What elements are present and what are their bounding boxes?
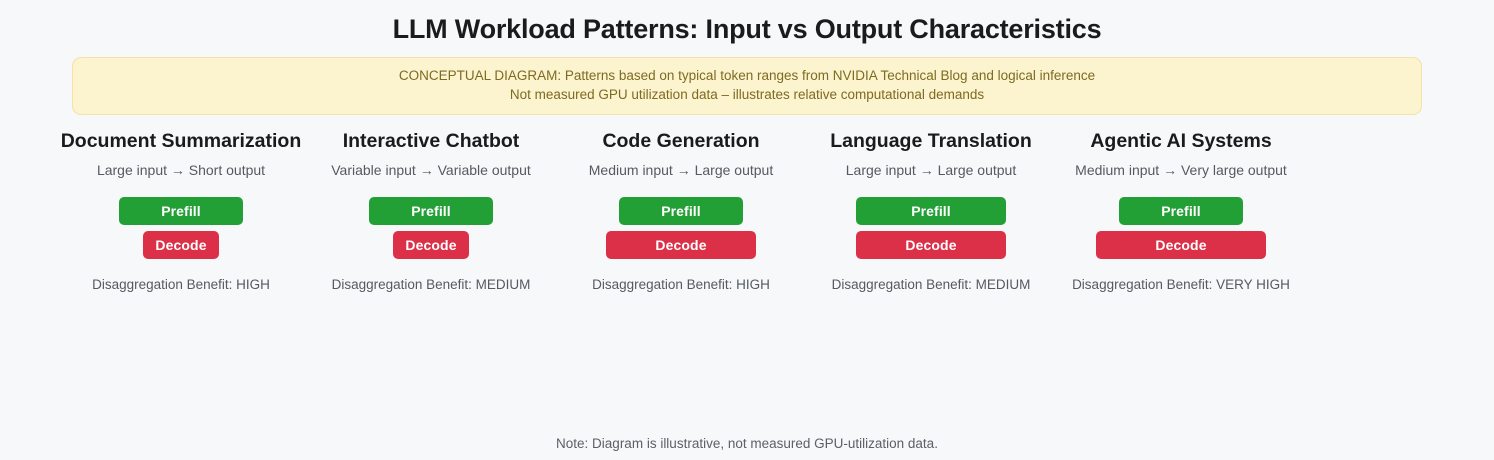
workload-column-interactive-chatbot: Interactive Chatbot Variable input → Var… <box>306 129 556 291</box>
banner-line-1: CONCEPTUAL DIAGRAM: Patterns based on ty… <box>89 67 1405 86</box>
decode-bar: Decode <box>856 231 1006 259</box>
disaggregation-benefit: Disaggregation Benefit: HIGH <box>92 277 270 292</box>
disaggregation-benefit: Disaggregation Benefit: VERY HIGH <box>1072 277 1290 292</box>
workload-title: Interactive Chatbot <box>343 129 520 153</box>
conceptual-diagram-banner: CONCEPTUAL DIAGRAM: Patterns based on ty… <box>72 57 1422 115</box>
workload-title: Code Generation <box>602 129 759 153</box>
workload-subtitle: Large input → Large output <box>846 162 1016 178</box>
decode-bar: Decode <box>1096 231 1266 259</box>
disaggregation-benefit: Disaggregation Benefit: MEDIUM <box>332 277 531 292</box>
workload-column-language-translation: Language Translation Large input → Large… <box>806 129 1056 291</box>
workload-bars: Prefill Decode <box>119 197 243 259</box>
prefill-bar: Prefill <box>1119 197 1243 225</box>
workload-bars: Prefill Decode <box>1096 197 1266 259</box>
banner-line-2: Not measured GPU utilization data – illu… <box>89 86 1405 105</box>
workload-columns: Document Summarization Large input → Sho… <box>0 129 1494 291</box>
footer-note: Note: Diagram is illustrative, not measu… <box>0 436 1494 451</box>
workload-subtitle: Large input → Short output <box>97 162 265 178</box>
decode-bar: Decode <box>393 231 469 259</box>
workload-subtitle: Medium input → Large output <box>589 162 773 178</box>
workload-title: Agentic AI Systems <box>1090 129 1271 153</box>
workload-bars: Prefill Decode <box>369 197 493 259</box>
workload-column-agentic-ai-systems: Agentic AI Systems Medium input → Very l… <box>1056 129 1306 291</box>
disaggregation-benefit: Disaggregation Benefit: MEDIUM <box>832 277 1031 292</box>
workload-bars: Prefill Decode <box>856 197 1006 259</box>
prefill-bar: Prefill <box>856 197 1006 225</box>
workload-subtitle: Variable input → Variable output <box>331 162 531 178</box>
disaggregation-benefit: Disaggregation Benefit: HIGH <box>592 277 770 292</box>
prefill-bar: Prefill <box>619 197 743 225</box>
page-title: LLM Workload Patterns: Input vs Output C… <box>0 0 1494 47</box>
prefill-bar: Prefill <box>369 197 493 225</box>
workload-subtitle: Medium input → Very large output <box>1075 162 1287 178</box>
decode-bar: Decode <box>143 231 219 259</box>
workload-title: Language Translation <box>830 129 1032 153</box>
workload-title: Document Summarization <box>61 129 302 153</box>
workload-column-code-generation: Code Generation Medium input → Large out… <box>556 129 806 291</box>
workload-column-document-summarization: Document Summarization Large input → Sho… <box>56 129 306 291</box>
workload-bars: Prefill Decode <box>606 197 756 259</box>
prefill-bar: Prefill <box>119 197 243 225</box>
decode-bar: Decode <box>606 231 756 259</box>
